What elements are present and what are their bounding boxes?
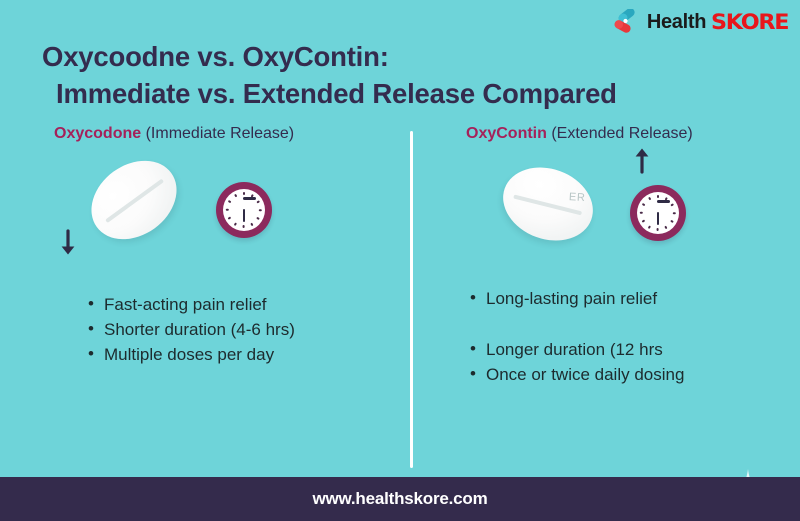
pill-icon — [76, 145, 192, 256]
release-type-extended: (Extended Release) — [551, 125, 692, 142]
feature-list-left: Fast-acting pain relief Shorter duration… — [88, 293, 396, 367]
infographic-canvas: Health SKORE Oxycoodne vs. OxyContin: Im… — [0, 0, 800, 521]
feature-list-right: Long-lasting pain relief Longer duration… — [470, 287, 792, 387]
drug-name-oxycontin: OxyContin — [466, 125, 547, 142]
clock-icon — [216, 182, 272, 238]
column-divider — [410, 131, 413, 468]
pill-score-line — [105, 179, 164, 223]
brand-logo: Health SKORE — [612, 8, 784, 36]
clock-face — [223, 189, 265, 231]
footer-bar: www.healthskore.com — [0, 477, 800, 521]
clock-icon — [630, 185, 686, 241]
drug-name-oxycodone: Oxycodone — [54, 125, 141, 142]
column-heading-left: Oxycodone (Immediate Release) — [36, 124, 396, 143]
page-title: Oxycoodne vs. OxyContin: Immediate vs. E… — [42, 39, 682, 112]
column-oxycontin: OxyContin (Extended Release) ER — [440, 124, 792, 388]
clock-hour-hand — [657, 212, 659, 225]
column-heading-right: OxyContin (Extended Release) — [440, 124, 792, 143]
clock-face — [637, 192, 679, 234]
list-item: Shorter duration (4-6 hrs) — [88, 318, 396, 343]
list-item: Longer duration (12 hrs — [470, 338, 792, 363]
arrow-down-icon — [58, 229, 78, 259]
list-item: Multiple doses per day — [88, 343, 396, 368]
footer-url: www.healthskore.com — [312, 489, 487, 509]
pill-icon-er: ER — [493, 156, 603, 253]
clock-minute-hand — [657, 200, 670, 202]
logo-text-health: Health — [647, 12, 706, 32]
title-line-1: Oxycoodne vs. OxyContin: — [42, 39, 682, 76]
list-item: Once or twice daily dosing — [470, 363, 792, 388]
clock-hour-hand — [243, 209, 245, 222]
list-item: Fast-acting pain relief — [88, 293, 396, 318]
logo-text-skore: SKORE — [711, 12, 788, 33]
capsule-pill-icon — [612, 9, 642, 35]
column-oxycodone: Oxycodone (Immediate Release) — [36, 124, 396, 368]
release-type-immediate: (Immediate Release) — [146, 125, 295, 142]
arrow-up-icon — [632, 145, 652, 175]
list-item: Long-lasting pain relief — [470, 287, 792, 312]
illustration-right: ER — [440, 143, 792, 263]
clock-minute-hand — [243, 197, 256, 199]
pill-label-er: ER — [568, 191, 585, 204]
title-line-2: Immediate vs. Extended Release Compared — [42, 76, 682, 113]
illustration-left — [36, 143, 396, 263]
